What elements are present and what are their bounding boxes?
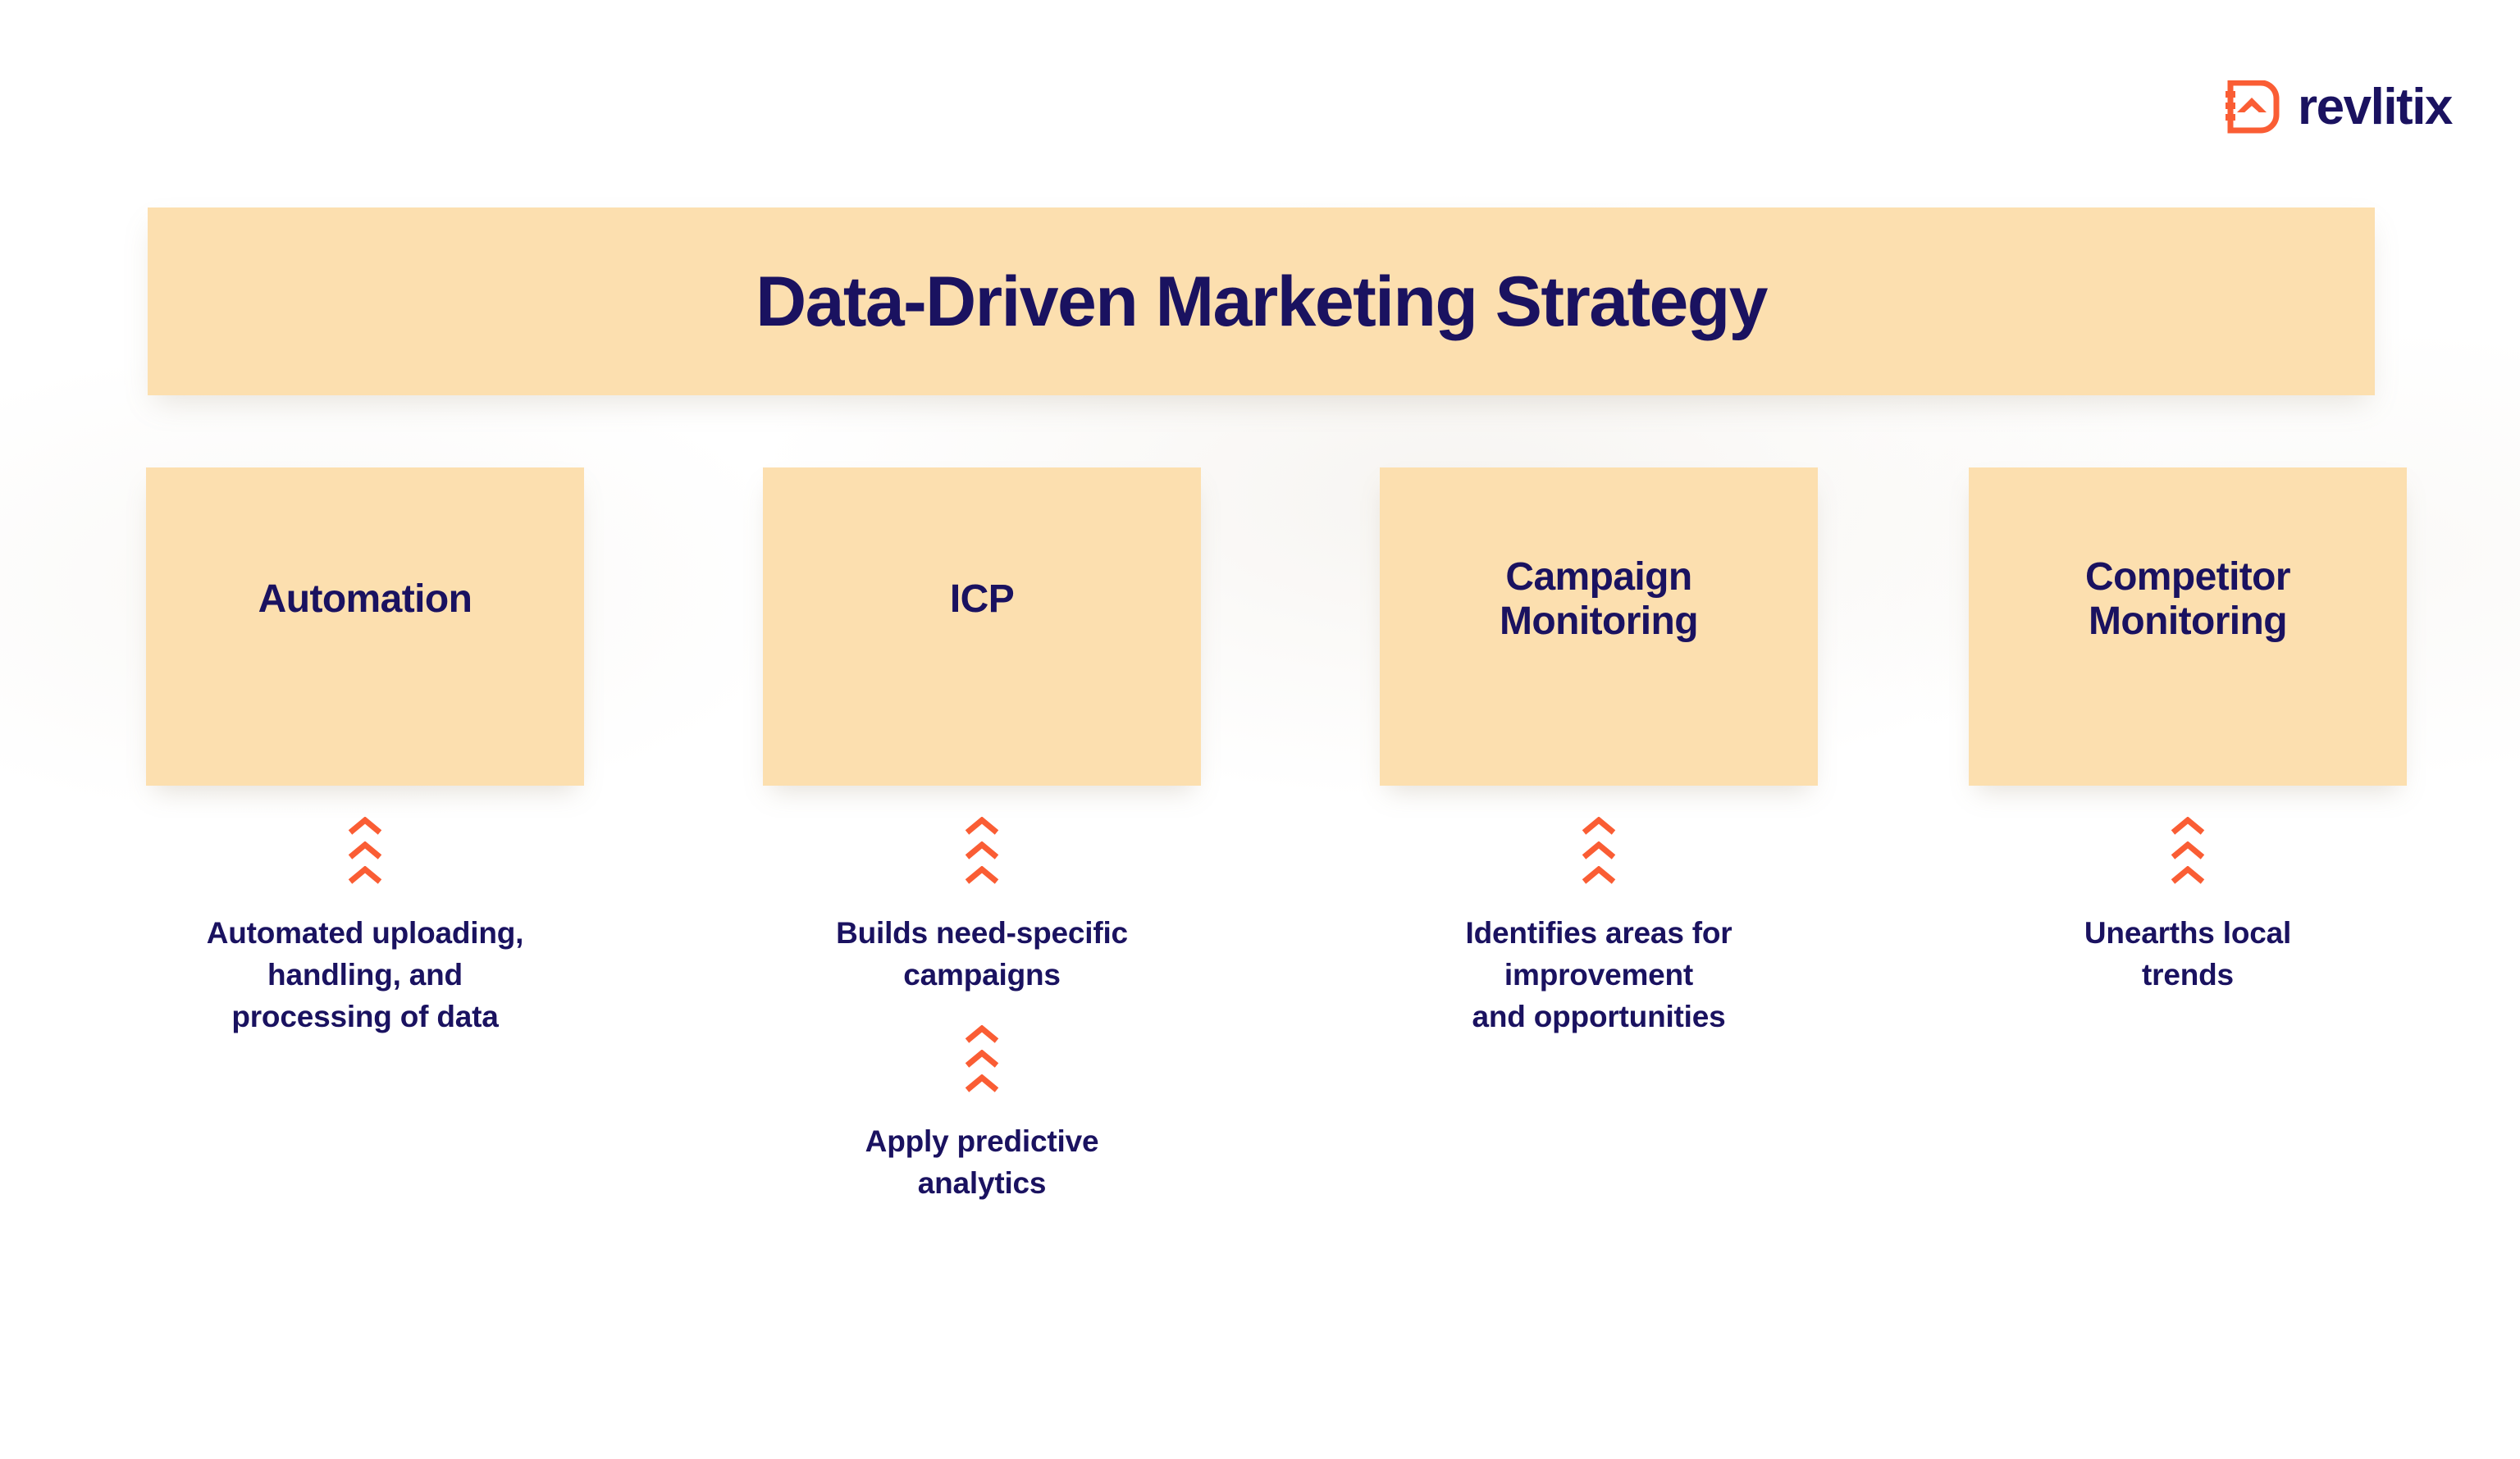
- brand-name: revlitix: [2298, 82, 2452, 133]
- pillar-card[interactable]: ICP: [763, 467, 1201, 786]
- pillar-column-campaign-monitoring: Campaign Monitoring Identifies areas for…: [1380, 467, 1818, 1037]
- pillar-card-title: Campaign Monitoring: [1500, 555, 1698, 644]
- pillar-card-title: Automation: [258, 577, 472, 622]
- pillar-column-automation: Automation Automated uploading, handling…: [146, 467, 584, 1037]
- pillar-column-icp: ICP Builds need-specific campaigns Apply…: [763, 467, 1201, 1204]
- triple-chevron-up-icon: [965, 817, 999, 884]
- pillar-description: Automated uploading, handling, and proce…: [135, 912, 595, 1037]
- triple-chevron-up-icon: [1582, 817, 1616, 884]
- title-banner: Data-Driven Marketing Strategy: [148, 207, 2375, 395]
- pillar-card-title: Competitor Monitoring: [2085, 555, 2290, 644]
- triple-chevron-up-icon: [2171, 817, 2205, 884]
- pillar-card-title: ICP: [950, 577, 1014, 622]
- pillar-column-competitor-monitoring: Competitor Monitoring Unearths local tre…: [1969, 467, 2407, 996]
- pillar-card[interactable]: Automation: [146, 467, 584, 786]
- triple-chevron-up-icon: [348, 817, 382, 884]
- pillar-card[interactable]: Competitor Monitoring: [1969, 467, 2407, 786]
- brand-logo[interactable]: revlitix: [2226, 80, 2452, 135]
- pillar-description: Unearths local trends: [1983, 912, 2393, 996]
- triple-chevron-up-icon-secondary: [965, 1025, 999, 1092]
- revlitix-shield-chevron-icon: [2226, 80, 2280, 135]
- pillar-card[interactable]: Campaign Monitoring: [1380, 467, 1818, 786]
- page-title: Data-Driven Marketing Strategy: [756, 267, 1767, 337]
- pillar-description: Identifies areas for improvement and opp…: [1369, 912, 1828, 1037]
- pillar-description: Builds need-specific campaigns: [777, 912, 1187, 996]
- pillar-description-secondary: Apply predictive analytics: [777, 1120, 1187, 1204]
- pillars-row: Automation Automated uploading, handling…: [0, 467, 2520, 1370]
